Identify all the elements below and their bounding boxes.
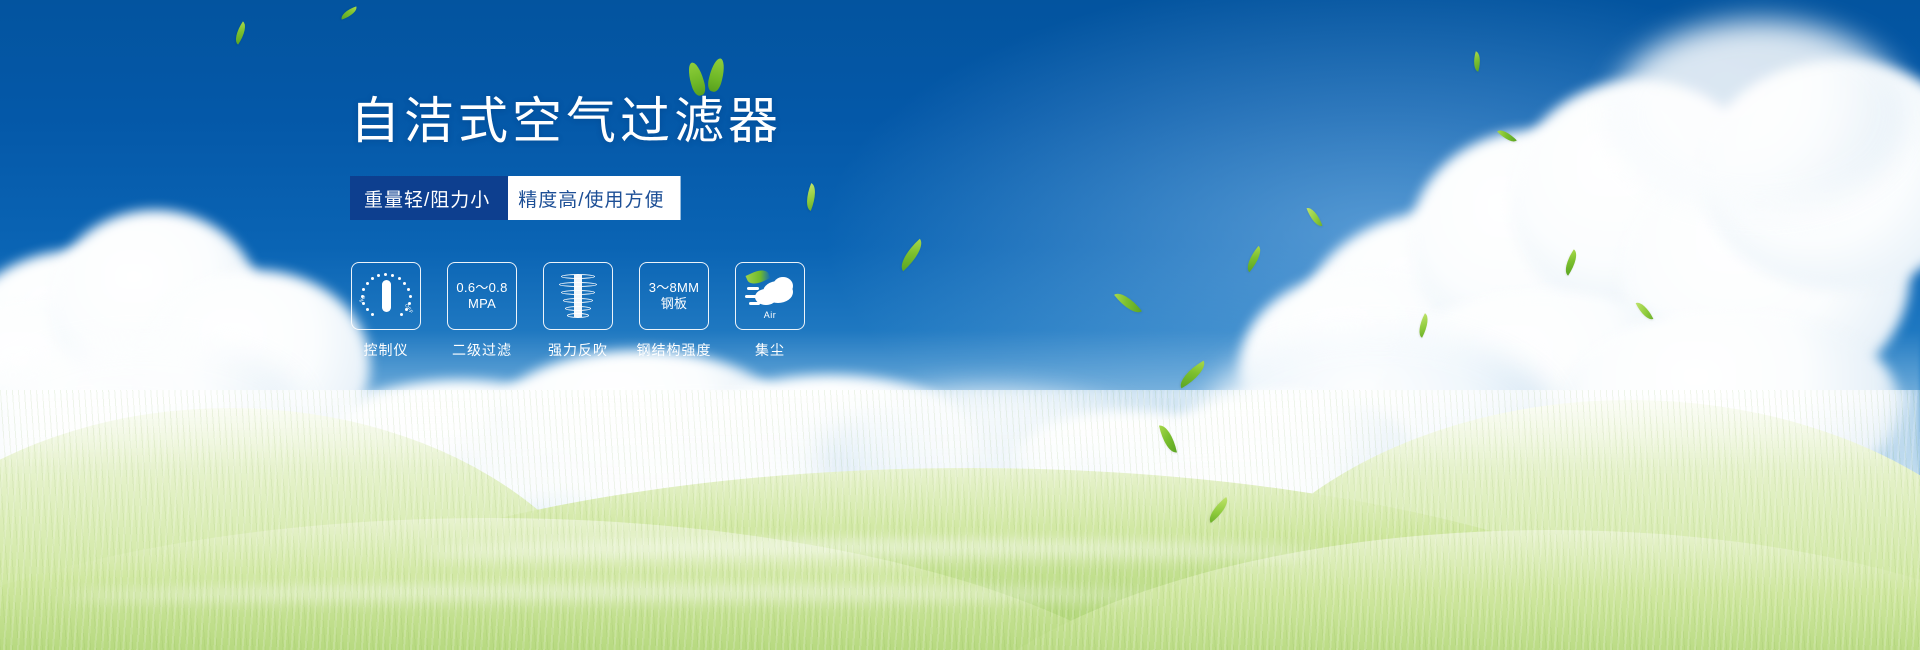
tagline-badge-right: 精度高/使用方便 <box>494 176 680 220</box>
leaf-icon <box>706 57 727 93</box>
banner-content: 自洁式空气过滤器 重量轻/阻力小 精度高/使用方便 <box>350 96 1050 360</box>
feature-icon-box: 3～8MM 钢板 <box>639 262 709 330</box>
feature-icon-box: NO OFF <box>351 262 421 330</box>
feature-label: 强力反吹 <box>548 340 608 360</box>
feature-item-backblow: 强力反吹 <box>542 262 614 360</box>
feature-label: 控制仪 <box>364 340 409 360</box>
feature-label: 二级过滤 <box>452 340 512 360</box>
air-label: Air <box>745 310 795 320</box>
feature-item-steel: 3～8MM 钢板 钢结构强度 <box>638 262 710 360</box>
feature-icon-box: Air <box>735 262 805 330</box>
title-block: 自洁式空气过滤器 <box>350 96 1050 146</box>
air-cloud-icon: Air <box>745 273 795 319</box>
grass-highlight <box>0 390 1920 470</box>
steel-icon-line1: 3～8MM <box>649 280 700 296</box>
feature-list: NO OFF 控制仪 0.6～0.8 MPA 二级过滤 <box>350 262 1050 360</box>
feature-label: 钢结构强度 <box>637 340 712 360</box>
steel-icon-line2: 钢板 <box>661 296 688 312</box>
leaf-icon <box>686 61 708 97</box>
feature-item-pressure: 0.6～0.8 MPA 二级过滤 <box>446 262 518 360</box>
pressure-icon-line2: MPA <box>468 296 496 312</box>
gauge-label-off: OFF <box>403 303 414 315</box>
title-leaf-decoration <box>686 58 732 100</box>
feature-icon-box: 0.6～0.8 MPA <box>447 262 517 330</box>
feature-label: 集尘 <box>755 340 785 360</box>
tagline-badges: 重量轻/阻力小 精度高/使用方便 <box>350 176 674 220</box>
gauge-label-no: NO <box>359 294 368 304</box>
field-path <box>420 540 1320 566</box>
pressure-icon-line1: 0.6～0.8 <box>456 280 507 296</box>
feature-icon-box <box>543 262 613 330</box>
filter-stack-icon <box>556 272 600 320</box>
tagline-badge-left: 重量轻/阻力小 <box>350 176 508 220</box>
feature-item-controller: NO OFF 控制仪 <box>350 262 422 360</box>
grass-field <box>0 390 1920 650</box>
gauge-needle <box>382 280 391 312</box>
gauge-icon: NO OFF <box>361 272 411 320</box>
feature-item-dust: Air 集尘 <box>734 262 806 360</box>
hero-banner: 自洁式空气过滤器 重量轻/阻力小 精度高/使用方便 <box>0 0 1920 650</box>
page-title: 自洁式空气过滤器 <box>350 96 1050 146</box>
field-path-2 <box>60 586 1160 606</box>
